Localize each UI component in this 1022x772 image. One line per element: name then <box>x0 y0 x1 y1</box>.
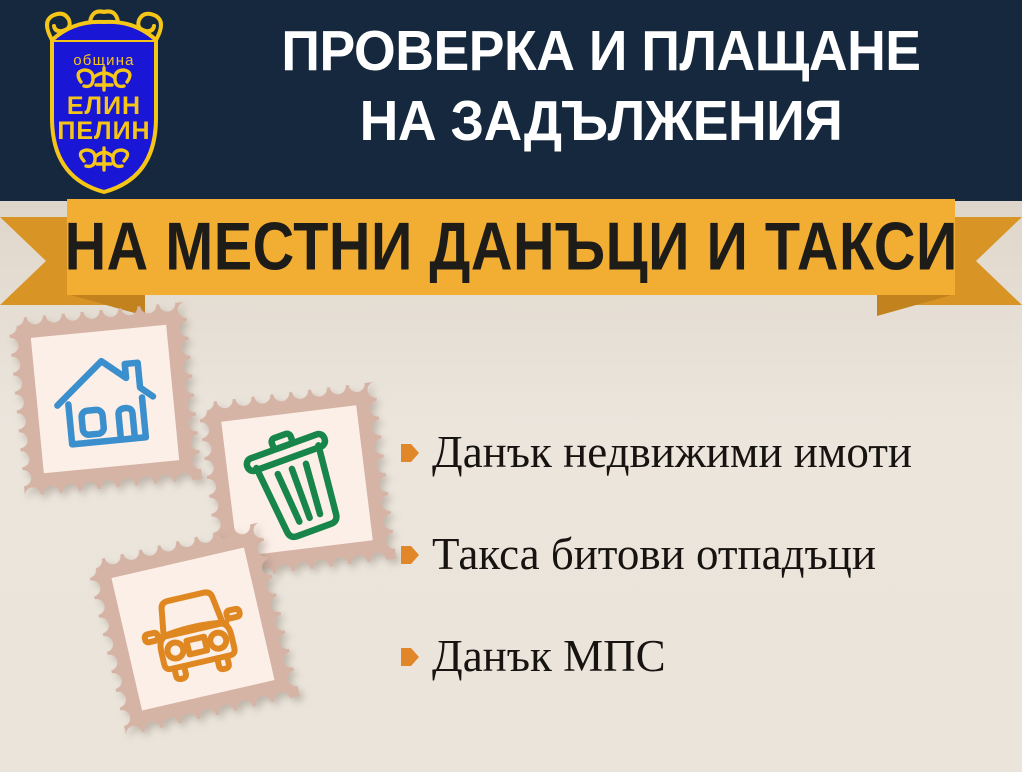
svg-text:ЕЛИН: ЕЛИН <box>67 92 141 120</box>
list-item: Такса битови отпадъци <box>401 527 1015 581</box>
page-title-line-1: ПРОВЕРКА И ПЛАЩАНЕ <box>281 19 920 83</box>
arrow-bullet-icon <box>401 443 419 463</box>
municipality-logo: община ЕЛИН ПЕЛИН <box>22 6 187 194</box>
poster-canvas: община ЕЛИН ПЕЛИН ПРОВЕРКА И ПЛАЩ <box>0 0 1022 772</box>
list-item-label: Данък недвижими имоти <box>432 425 912 479</box>
arrow-bullet-icon <box>401 545 419 565</box>
tax-type-list: Данък недвижими имоти Такса битови отпад… <box>401 425 1015 731</box>
ribbon-banner: НА МЕСТНИ ДАНЪЦИ И ТАКСИ <box>67 199 955 295</box>
list-item: Данък недвижими имоти <box>401 425 1015 479</box>
list-item-label: Такса битови отпадъци <box>432 527 876 581</box>
list-item: Данък МПС <box>401 629 1015 683</box>
page-title-line-2: НА ЗАДЪЛЖЕНИЯ <box>219 86 982 156</box>
page-title: ПРОВЕРКА И ПЛАЩАНЕ НА ЗАДЪЛЖЕНИЯ <box>219 16 982 156</box>
subtitle-ribbon: НА МЕСТНИ ДАНЪЦИ И ТАКСИ <box>0 199 1022 311</box>
svg-text:ПЕЛИН: ПЕЛИН <box>57 117 150 145</box>
ribbon-label: НА МЕСТНИ ДАНЪЦИ И ТАКСИ <box>64 213 957 281</box>
stamp-card-property-tax <box>8 302 202 496</box>
list-item-label: Данък МПС <box>432 629 666 683</box>
ribbon-fold-right <box>877 294 955 316</box>
arrow-bullet-icon <box>401 647 419 667</box>
